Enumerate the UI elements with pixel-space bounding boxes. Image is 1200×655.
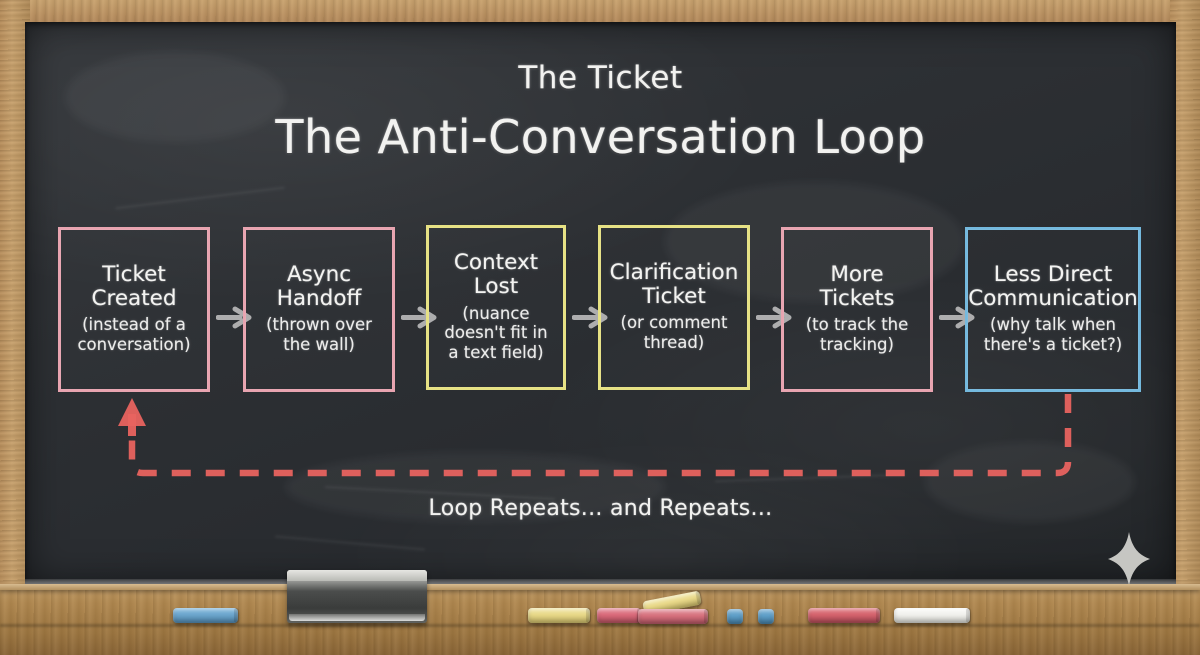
blackboard-eraser-icon[interactable] xyxy=(287,570,427,623)
flow-node-less-direct-communication[interactable]: Less Direct Communication (why talk when… xyxy=(965,227,1141,392)
frame-top-rail xyxy=(0,0,1200,22)
tray-lip xyxy=(0,584,1200,590)
tray-shadow-line xyxy=(0,624,1200,627)
chalk-stub-icon-blue-3[interactable] xyxy=(758,609,774,624)
chalk-sparkle-icon xyxy=(1106,530,1152,584)
chalk-stub-icon-blue-2[interactable] xyxy=(727,609,743,624)
loop-dashed-line xyxy=(132,394,1068,473)
loop-arrowhead-icon xyxy=(118,398,146,426)
flow-node-more-tickets[interactable]: More Tickets (to track the tracking) xyxy=(781,227,933,392)
flow-node-subtitle: (thrown over the wall) xyxy=(266,315,372,354)
loop-arrow-shaft xyxy=(128,414,136,436)
chalk-end-cap xyxy=(966,608,971,623)
flow-node-title: Async Handoff xyxy=(277,263,362,312)
flow-node-subtitle: (or comment thread) xyxy=(621,313,728,352)
chalk-end-cap xyxy=(234,608,239,623)
process-flow: Ticket Created (instead of a conversatio… xyxy=(25,22,1176,584)
chalk-end-cap xyxy=(704,609,709,624)
chalk-end-cap xyxy=(876,608,881,623)
chalk-stick-icon-pink-1[interactable] xyxy=(597,608,641,623)
chalkboard-scene: The Ticket The Anti-Conversation Loop Ti… xyxy=(0,0,1200,655)
chalk-stick-icon-yellow-1[interactable] xyxy=(528,608,590,623)
chalk-stick-icon-pink-2[interactable] xyxy=(638,609,708,624)
flow-node-title: Clarification Ticket xyxy=(610,261,739,310)
chalk-tray xyxy=(0,584,1200,655)
flow-node-subtitle: (nuance doesn't fit in a text field) xyxy=(444,304,547,362)
eraser-felt xyxy=(287,570,427,581)
flow-node-subtitle: (why talk when there's a ticket?) xyxy=(984,315,1122,354)
flow-node-title: Context Lost xyxy=(454,251,538,300)
flow-node-title: More Tickets xyxy=(820,263,895,312)
flow-node-async-handoff[interactable]: Async Handoff (thrown over the wall) xyxy=(243,227,395,392)
loop-repeats-label: Loop Repeats... and Repeats... xyxy=(25,496,1176,521)
chalk-stick-icon-white-1[interactable] xyxy=(894,608,970,623)
chalk-end-cap xyxy=(586,608,591,623)
flow-node-title: Ticket Created xyxy=(91,263,176,312)
chalk-stick-icon-red-1[interactable] xyxy=(808,608,880,623)
flow-node-context-lost[interactable]: Context Lost (nuance doesn't fit in a te… xyxy=(426,225,566,390)
eraser-chalk-dust xyxy=(289,614,425,621)
flow-node-subtitle: (to track the tracking) xyxy=(806,315,909,354)
flow-node-subtitle: (instead of a conversation) xyxy=(77,315,190,354)
flow-node-ticket-created[interactable]: Ticket Created (instead of a conversatio… xyxy=(58,227,210,392)
chalk-stick-icon-blue-1[interactable] xyxy=(173,608,238,623)
chalkboard-surface: The Ticket The Anti-Conversation Loop Ti… xyxy=(25,22,1176,584)
chalk-end-cap xyxy=(695,590,703,605)
flow-node-clarification-ticket[interactable]: Clarification Ticket (or comment thread) xyxy=(598,225,750,390)
flow-node-title: Less Direct Communication xyxy=(968,263,1137,312)
